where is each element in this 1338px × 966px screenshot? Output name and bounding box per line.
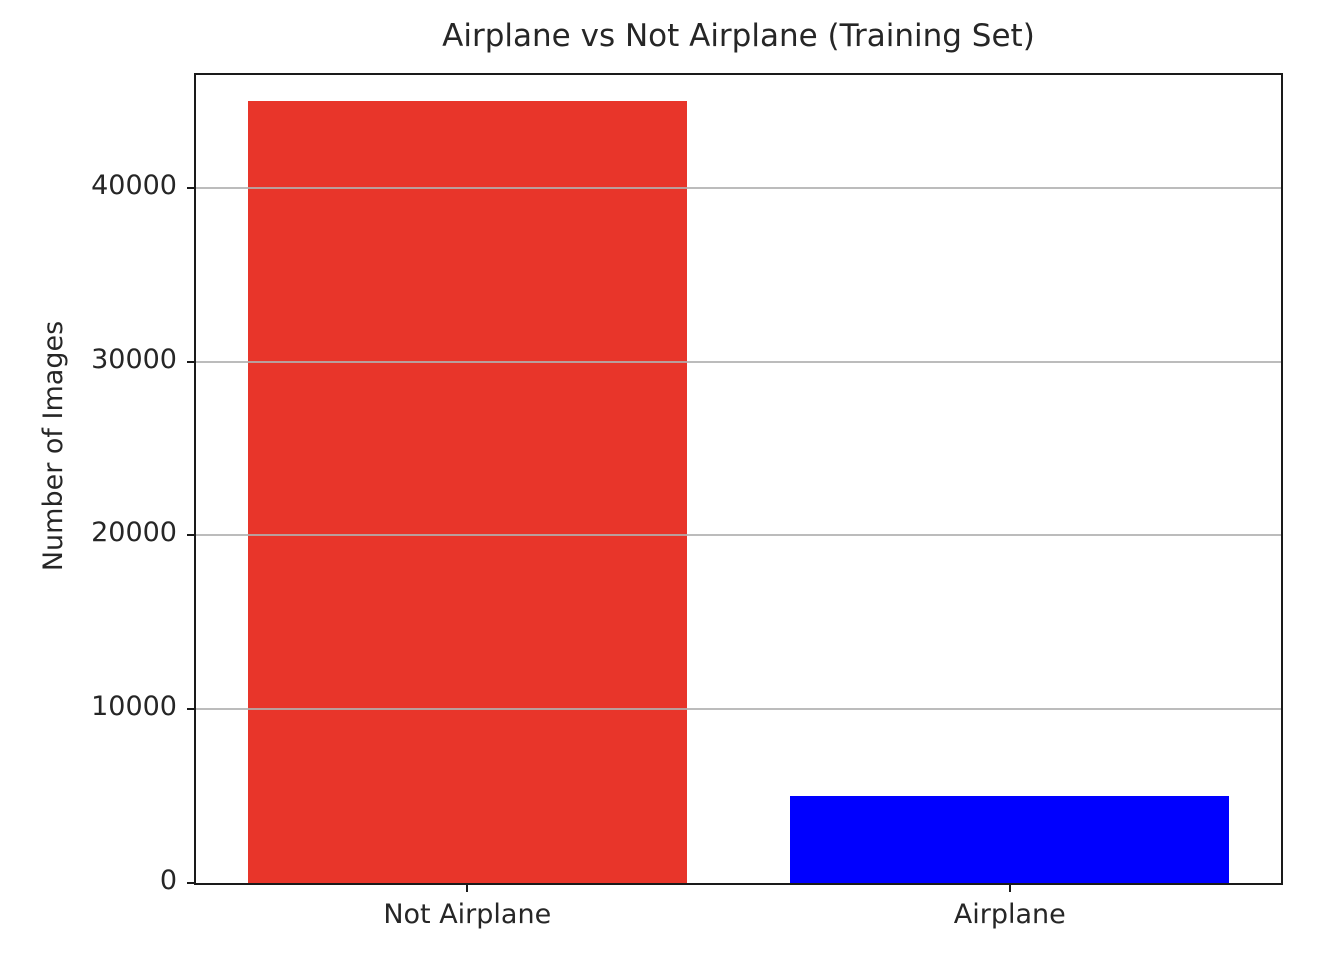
y-tick-label-10000: 10000 [0,691,177,722]
x-tick-label-not-airplane: Not Airplane [267,899,667,930]
y-tick-mark-30000 [187,361,196,363]
y-tick-label-0: 0 [0,865,177,896]
y-tick-label-20000: 20000 [0,517,177,548]
y-tick-mark-0 [187,882,196,884]
plot-area: 010000200003000040000Not AirplaneAirplan… [194,73,1283,885]
chart-title: Airplane vs Not Airplane (Training Set) [194,18,1283,54]
x-tick-mark-0 [466,883,468,892]
x-tick-label-airplane: Airplane [810,899,1210,930]
figure-canvas: Airplane vs Not Airplane (Training Set) … [0,0,1338,966]
bar-airplane[interactable] [790,796,1229,883]
y-axis-label: Number of Images [38,296,69,596]
x-tick-mark-1 [1009,883,1011,892]
y-tick-mark-20000 [187,534,196,536]
y-tick-label-30000: 30000 [0,344,177,375]
y-tick-mark-40000 [187,187,196,189]
bar-not-airplane[interactable] [248,101,687,883]
y-tick-label-40000: 40000 [0,170,177,201]
y-tick-mark-10000 [187,708,196,710]
